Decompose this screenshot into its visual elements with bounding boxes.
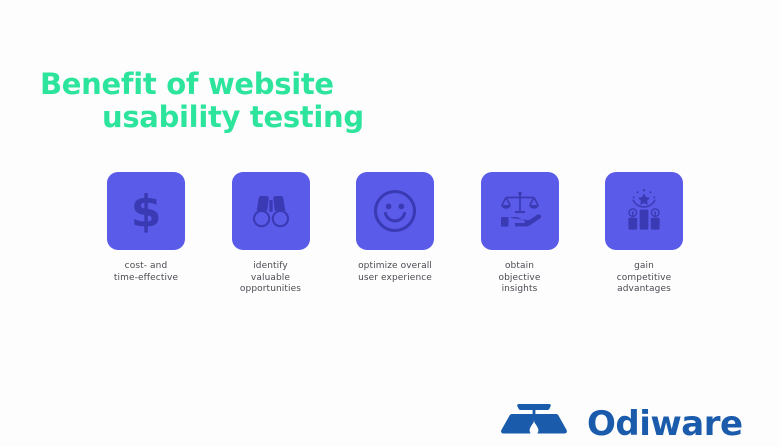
benefit-card-label: cost- and time-effective <box>114 261 178 284</box>
benefit-card-tile[interactable]: $ <box>107 172 185 250</box>
benefit-card-objective-insights[interactable]: obtain objective insights <box>474 172 566 296</box>
benefit-card-tile[interactable] <box>605 172 683 250</box>
dollar-sign-icon: $ <box>126 189 166 233</box>
benefit-card-label: identify valuable opportunities <box>240 261 301 296</box>
benefit-card-tile[interactable] <box>481 172 559 250</box>
hand-holding-scales-icon <box>496 188 544 234</box>
title-line-1: Benefit of website <box>40 68 460 101</box>
svg-text:$: $ <box>131 189 162 233</box>
benefit-cards-row: $ cost- and time-effective <box>100 172 690 296</box>
benefit-card-label: obtain objective insights <box>499 261 541 296</box>
odiware-logo-text: Odiware <box>587 406 743 442</box>
benefit-card-tile[interactable] <box>356 172 434 250</box>
title-line-2: usability testing <box>40 101 460 134</box>
benefit-card-cost-effective[interactable]: $ cost- and time-effective <box>100 172 192 284</box>
odiware-logo[interactable]: Odiware <box>497 402 743 446</box>
binoculars-icon <box>249 189 293 233</box>
podium-star-icon <box>620 187 668 235</box>
odiware-logo-mark-icon <box>497 402 571 446</box>
benefit-card-optimize-ux[interactable]: optimize overall user experience <box>349 172 441 284</box>
benefit-card-competitive-advantages[interactable]: gain competitive advantages <box>598 172 690 296</box>
page-title: Benefit of website usability testing <box>40 68 460 134</box>
benefit-card-label: gain competitive advantages <box>617 261 672 296</box>
benefit-card-tile[interactable] <box>232 172 310 250</box>
smiley-face-icon <box>372 188 418 234</box>
benefit-card-identify-opportunities[interactable]: identify valuable opportunities <box>225 172 317 296</box>
benefit-card-label: optimize overall user experience <box>358 261 432 284</box>
slide-canvas: Benefit of website usability testing $ c… <box>0 0 780 440</box>
